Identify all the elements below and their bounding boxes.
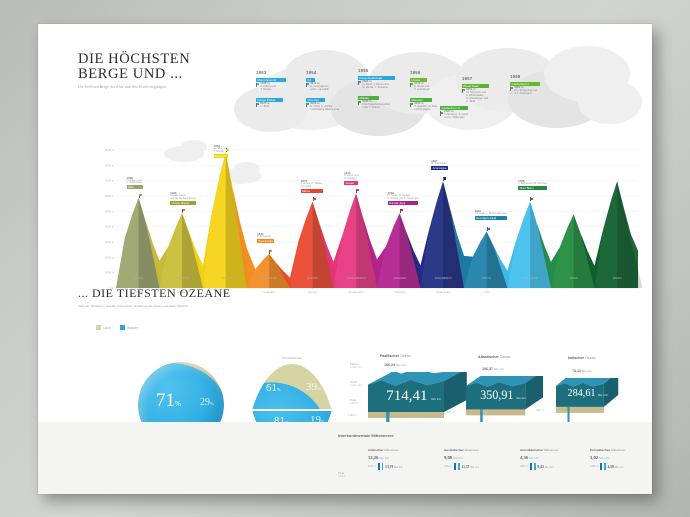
flag-marker: 8516 mE. Reiss undF. Luchsinger <box>410 83 458 92</box>
footer-title: Interkontinentale Mittelmeere <box>338 433 394 438</box>
ocean-axis-label: Inhaltin Mio. km³ <box>350 380 362 387</box>
ocean-volume: 714,41 Mio. km³ <box>386 388 441 405</box>
footer-col-volume: 13,70 Mio. km³ <box>385 465 403 469</box>
mountain-detail: 8516 mE. Reiss undF. Luchsinger <box>414 83 429 92</box>
cloud-year-1953: 1953Mount Everest8848 mE. Hillary undT. … <box>256 70 304 115</box>
footer-col-depth: 1486 m <box>590 465 598 468</box>
peak-name: Vinson Massif <box>170 201 190 205</box>
peak-name-bar: Mont Blanc <box>518 186 547 190</box>
mountain-tag[interactable]: Mount Everest8848 mE. Hillary undT. Norg… <box>256 78 304 92</box>
mountain-altitude: 8611 m <box>310 82 319 85</box>
footer-col-area: 3,02 Mio. km² <box>590 455 662 460</box>
footer-axis-label: Tiefe mittlere <box>338 471 346 478</box>
ocean-volume: 350,91 Mio. km³ <box>480 388 526 403</box>
mountain-altitude: 8848 m <box>260 82 269 85</box>
legend-item: Land <box>96 325 111 330</box>
mountain-inner-label: NORDAMERIKA <box>346 276 366 280</box>
mountain-inner-label: AFRIKA <box>134 276 144 280</box>
footer-bar-light <box>458 463 460 470</box>
mountain-detail: 8163 mT. Imanishi, M. Katound M. Higeta <box>414 103 437 112</box>
mountain-tag[interactable]: Kangchendzönga8586 mG. Band, J. Brown un… <box>358 76 406 90</box>
x-axis-tick: Nordamerika <box>349 290 364 294</box>
mountain-altitude: 8125 m <box>260 102 269 105</box>
mountain-inner-label: ANDEN <box>613 276 622 280</box>
peak-flag-icon <box>182 209 183 213</box>
ocean-title: Atlantischer Ozean <box>478 355 510 359</box>
ocean-area: 106,57 Mio. km² <box>482 367 504 371</box>
footer-col-volume: 4,58 Mio. km³ <box>608 465 624 469</box>
peak-name: Gunnbjørn Fjeld <box>475 216 498 220</box>
ocean-title: Pazifischer Ozean <box>380 354 411 358</box>
footer-col-volume: 9,43 Mio. km³ <box>538 465 554 469</box>
mountain-detail: 8611 mA. Compagnoniund L. Lacedelli <box>310 83 328 92</box>
footer-bar-dark <box>600 463 602 470</box>
footer-col-name: Amerikanischer Mittelmeer <box>520 448 592 452</box>
peak-name: Kibo <box>127 185 136 189</box>
mountain-altitude: 8051 m <box>466 88 475 91</box>
pie-value-north-land: 39% <box>306 381 321 393</box>
flag-marker: 8051 mM. Schmuck undF. Wintersteller,K. … <box>462 89 510 104</box>
footer-column: Amerikanischer Mittelmeer4,36 Mio. km²21… <box>520 448 592 470</box>
mountain-tag[interactable]: K28611 mA. Compagnoniund L. Lacedelli <box>306 78 354 92</box>
x-axis-tick: Europa <box>308 290 317 294</box>
footer-bar-light <box>534 463 536 470</box>
legend-swatch <box>96 325 101 330</box>
footer-bar-dark <box>530 463 532 470</box>
footer-col-name: Australischer Mittelmeer <box>444 448 516 452</box>
footer-col-row: 1200 m11,37 Mio. km³ <box>444 463 516 470</box>
ocean-mean-depth: 3332 m <box>446 411 454 414</box>
mountain-inner-label: KAUKASUS <box>523 276 537 280</box>
ocean-area: 166,24 Mio. km² <box>384 363 406 367</box>
y-axis-tick: 7000 m <box>105 179 115 183</box>
year-label: 1957 <box>462 76 510 81</box>
mountain-inner-label: ARKTIS <box>482 276 492 280</box>
mountain-detail: 8051 mM. Schmuck undF. Wintersteller,K. … <box>466 89 488 104</box>
footer-column: Europäisches Mittelmeer3,02 Mio. km²1486… <box>590 448 662 470</box>
x-axis-tick: Australien <box>263 290 275 294</box>
year-label: 1958 <box>510 74 558 79</box>
peak-name-bar: Puncak Jaya <box>388 201 418 205</box>
y-axis-tick: 8000 m <box>105 163 115 167</box>
mountain-inner-label: ALPEN <box>569 276 578 280</box>
flag-icon <box>410 103 413 107</box>
mountain-detail: 8485 mFranzösische Expeditionunter J. Fr… <box>362 101 390 110</box>
x-axis-tick: Südamerika <box>436 290 450 294</box>
peak-flag-icon <box>226 148 227 152</box>
mountain-tag[interactable]: Gasherbrum I8080 mP.K. Schoening undA.J.… <box>510 82 558 96</box>
flag-marker: 8080 mP.K. Schoening undA.J. Kaufmann <box>510 87 558 96</box>
mountain-chart: 9000 m8000 m7000 m6000 m5000 m4000 m3000… <box>38 142 652 302</box>
mountain-detail: 8586 mG. Band, J. Brown undN. Hardie, T.… <box>362 81 388 90</box>
flag-icon <box>410 83 413 87</box>
flag-marker: 8125 mH. Buhl <box>256 103 304 109</box>
y-axis-tick: 9000 m <box>105 148 115 152</box>
peak-flag-icon <box>356 189 357 193</box>
peak-callout[interactable]: 1962H. Harrer, R. Kippax,P. Temple und R… <box>388 191 418 205</box>
footer-bar-dark <box>378 463 380 470</box>
peak-name: Everest <box>214 154 226 158</box>
land-water-legend: LandWasser <box>96 325 138 330</box>
flag-icon <box>256 103 259 107</box>
oceans-section-title: ... DIE TIEFSTEN OZEANE Tiefe der Weltme… <box>78 286 231 308</box>
footer-col-depth: 2164 m <box>520 465 528 468</box>
mountain-detail: 8034 mF. Moravec, S. Larchund H. Willenp… <box>444 111 468 120</box>
peak-flag-icon <box>269 250 270 254</box>
flag-marker: 8611 mA. Compagnoniund L. Lacedelli <box>306 83 354 92</box>
oceans-title: ... DIE TIEFSTEN OZEANE <box>78 286 231 301</box>
mountain-altitude: 8188 m <box>310 102 319 105</box>
peak-name-bar: Elbrus <box>301 189 323 193</box>
year-label: 1956 <box>410 70 458 75</box>
mountain-altitude: 8485 m <box>362 100 371 103</box>
footer-bar-dark <box>454 463 456 470</box>
peak-flag-icon <box>313 197 314 201</box>
peak-flag-icon <box>530 197 531 201</box>
peak-name-bar: Everest <box>214 154 229 158</box>
footer-col-volume: 11,37 Mio. km³ <box>462 465 480 469</box>
ocean-title: Indischer Ozean <box>568 356 596 360</box>
ocean-mean-depth: 4188 m <box>348 414 358 417</box>
peak-callout[interactable]: 1966Nicolas Clinchund die Sentinel Range… <box>170 191 196 205</box>
mountain-altitude: 8586 m <box>362 80 371 83</box>
peak-flag-icon <box>139 194 140 198</box>
pie-value-land: 29% <box>200 397 214 408</box>
y-axis-tick: 3000 m <box>105 240 115 244</box>
pie-label-north: Nordhalbkugel <box>252 356 332 360</box>
cloud-year-1957: 1957Broad Peak8051 mM. Schmuck undF. Win… <box>462 76 510 109</box>
peak-name: Aconcagua <box>431 166 448 170</box>
peak-name-bar: Kibo <box>127 185 143 189</box>
peak-name: Mont Blanc <box>518 186 535 190</box>
x-axis-tick: Ozeanien <box>394 290 406 294</box>
flag-icon <box>306 103 309 107</box>
flag-icon <box>306 83 309 87</box>
flag-icon <box>256 83 259 87</box>
footer-column: Australischer Mittelmeer9,08 Mio. km²120… <box>444 448 516 470</box>
x-axis-tick: Arktis <box>483 290 490 294</box>
peak-flag-icon <box>443 177 444 181</box>
peak-name: Kosciuszko <box>257 239 274 243</box>
mountain-detail: 8125 mH. Buhl <box>260 103 269 109</box>
mountain-tag[interactable]: Lhotse8516 mE. Reiss undF. Luchsinger <box>410 78 458 92</box>
peak-callout[interactable]: 1912J.P. Koch, L. Mylius-ErichsenGunnbjø… <box>475 209 507 220</box>
footer-col-depth: 1200 m <box>444 465 452 468</box>
peak-name-bar: Vinson Massif <box>170 201 196 205</box>
peak-callout[interactable]: 1840P. StrzeleckiKosciuszko <box>257 232 274 243</box>
flag-marker: 8586 mG. Band, J. Brown undN. Hardie, T.… <box>358 81 406 90</box>
flag-marker: 8485 mFranzösische Expeditionunter J. Fr… <box>358 101 406 110</box>
footer-col-row: 1117 m13,70 Mio. km³ <box>368 463 440 470</box>
ocean-mean-depth: 3897 m <box>536 409 544 412</box>
year-label: 1954 <box>306 70 354 75</box>
footer-col-area: 4,36 Mio. km² <box>520 455 592 460</box>
peak-name-bar: Kosciuszko <box>257 239 274 243</box>
peak-name: Elbrus <box>301 189 312 193</box>
cloud-year-1954: 1954K28611 mA. Compagnoniund L. Lacedell… <box>306 70 354 118</box>
mountain-inner-label: EUROPA <box>307 276 318 280</box>
peak-name-bar: Aconcagua <box>431 166 448 170</box>
y-axis-tick: 1000 m <box>105 271 115 275</box>
mountain-tag[interactable]: Broad Peak8051 mM. Schmuck undF. Winters… <box>462 84 510 104</box>
flag-icon <box>462 89 465 93</box>
flag-icon <box>358 101 361 105</box>
footer-bar-light <box>382 463 384 470</box>
flag-icon <box>440 111 443 115</box>
footer-col-row: 1486 m4,58 Mio. km³ <box>590 463 662 470</box>
infographic-poster: DIE HÖCHSTEN BERGE UND ... Die höchsten … <box>38 24 652 494</box>
mountain-detail: 8188 mH. Tichy, S. Jöchlerund Pasang Daw… <box>310 103 338 112</box>
footer-col-name: Arktischer Mittelmeer <box>368 448 440 452</box>
y-axis-tick: 2000 m <box>105 255 115 259</box>
y-axis-tick: 6000 m <box>105 194 115 198</box>
mountain-detail: 8848 mE. Hillary undT. Norgay <box>260 83 275 92</box>
mountain-altitude: 8516 m <box>414 82 423 85</box>
footer-col-area: 12,26 Mio. km² <box>368 455 440 460</box>
peak-callout[interactable]: 1874F. Grove, H. Walker,P. KnubelElbrus <box>301 179 323 193</box>
y-axis-tick: 4000 m <box>105 225 115 229</box>
legend-item: Wasser <box>120 325 138 330</box>
pie-value-north-water: 61% <box>266 382 281 394</box>
peak-name: Puncak Jaya <box>388 201 407 205</box>
flag-icon <box>510 87 513 91</box>
footer-col-row: 2164 m9,43 Mio. km³ <box>520 463 592 470</box>
peak-flag-icon <box>487 227 488 231</box>
flag-marker: 8848 mE. Hillary undT. Norgay <box>256 83 304 92</box>
ocean-volume: 284,61 Mio. km³ <box>567 388 608 399</box>
legend-label: Wasser <box>127 326 138 330</box>
y-axis-tick: 5000 m <box>105 209 115 213</box>
mountain-tag[interactable]: Makalu8485 mFranzösische Expeditionunter… <box>358 96 406 110</box>
year-label: 1953 <box>256 70 304 75</box>
legend-swatch <box>120 325 125 330</box>
peak-name-bar: Gunnbjørn Fjeld <box>475 216 507 220</box>
mountain-inner-label: OZEANIEN <box>393 276 406 280</box>
mountain-inner-label: ASIEN <box>222 276 230 280</box>
mountain-altitude: 8080 m <box>514 86 523 89</box>
footer-col-area: 9,08 Mio. km² <box>444 455 516 460</box>
peak-callout[interactable]: 1786J. Balmat und M. PaccardMont Blanc <box>518 179 547 190</box>
mountain-detail: 8080 mP.K. Schoening undA.J. Kaufmann <box>514 87 537 96</box>
footer-column: Arktischer Mittelmeer12,26 Mio. km²1117 … <box>368 448 440 470</box>
cloud-year-1958: 1958Gasherbrum I8080 mP.K. Schoening und… <box>510 74 558 102</box>
mountain-tag[interactable]: Gasherbrum II8034 mF. Moravec, S. Larchu… <box>440 106 488 120</box>
footer-bar-light <box>604 463 606 470</box>
flag-icon <box>358 81 361 85</box>
mountain-tag-extra[interactable]: Gasherbrum II8034 mF. Moravec, S. Larchu… <box>440 106 488 122</box>
mountain-inner-label: ANTARKTIS <box>175 276 190 280</box>
year-label: 1955 <box>358 68 406 73</box>
peak-name-bar: Denali <box>344 181 358 185</box>
peak-callout[interactable]: 1913H. Stuck undH. KarstensDenali <box>344 171 358 185</box>
ocean-axis-label: Tiefemittlere <box>350 398 358 405</box>
oceans-subtitle: Tiefe der Weltmeere und die prozentuale … <box>78 304 231 308</box>
mountain-inner-label: SÜDAMERIKA <box>435 276 452 280</box>
mountain-tag[interactable]: Nanga Parbat8125 mH. Buhl <box>256 98 304 109</box>
cloud-year-1955: 1955Kangchendzönga8586 mG. Band, J. Brow… <box>358 68 406 116</box>
peak-name: Denali <box>344 181 355 185</box>
mountain-tag[interactable]: Cho Oyu8188 mH. Tichy, S. Jöchlerund Pas… <box>306 98 354 112</box>
peak-callout[interactable]: 1897M. ZurbriggenAconcagua <box>431 159 448 170</box>
mountain-chart-svg: 9000 m8000 m7000 m6000 m5000 m4000 m3000… <box>38 142 652 302</box>
legend-label: Land <box>104 326 111 330</box>
pie-value-water: 71% <box>156 390 181 412</box>
flag-marker: 8188 mH. Tichy, S. Jöchlerund Pasang Daw… <box>306 103 354 112</box>
cloud-shape <box>578 80 642 124</box>
footer-col-name: Europäisches Mittelmeer <box>590 448 662 452</box>
peak-flag-icon <box>400 209 401 213</box>
mountain-altitude: 8163 m <box>414 102 423 105</box>
ocean-axis-label: Flächein Mio. km² <box>350 362 362 369</box>
footer-col-depth: 1117 m <box>368 465 376 468</box>
peak-callout[interactable]: 1889H. Meyer undL. PurtschellerKibo <box>127 176 143 190</box>
mountain-inner-label: AUSTRALIEN <box>261 276 277 280</box>
flag-marker: 8034 mF. Moravec, S. Larchund H. Willenp… <box>440 111 488 120</box>
ocean-area: 74,12 Mio. km² <box>572 369 592 373</box>
